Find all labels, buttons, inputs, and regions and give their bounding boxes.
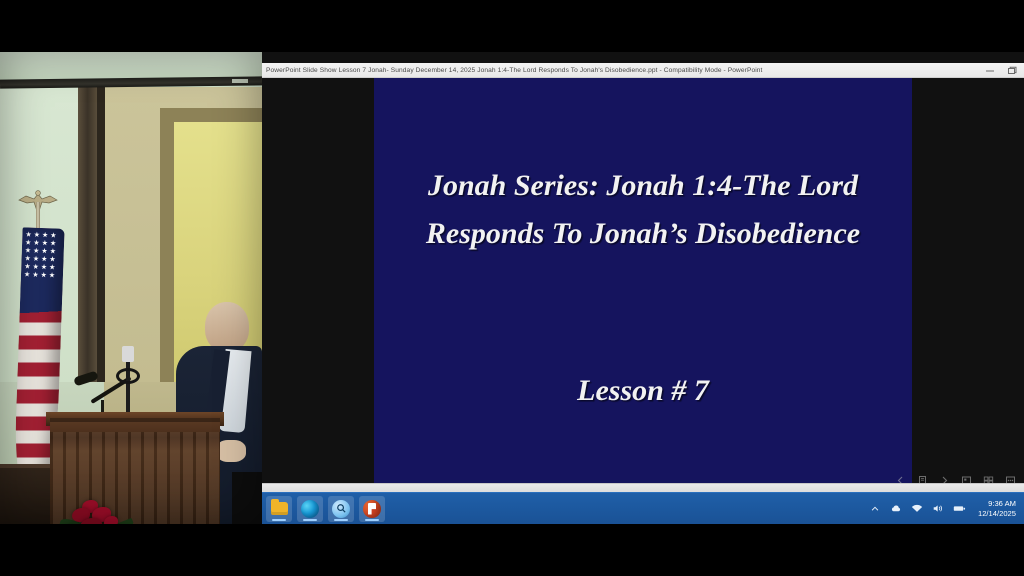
- webcam-video-pane[interactable]: ★★★★★★★★★★★★★★★★★★★★★★★★: [0, 52, 262, 524]
- microphone-clamp: [116, 368, 140, 384]
- screen: ★★★★★★★★★★★★★★★★★★★★★★★★: [0, 0, 1024, 576]
- system-tray: 9:36 AM 12/14/2025: [869, 499, 1024, 519]
- active-indicator: [365, 519, 379, 521]
- clock-date: 12/14/2025: [978, 509, 1016, 519]
- taskbar-app-buttons: [262, 496, 385, 522]
- title-bar[interactable]: PowerPoint Slide Show Lesson 7 Jonah- Su…: [262, 63, 1024, 78]
- poinsettia-flowers: [56, 498, 152, 524]
- taskbar-item-file-explorer[interactable]: [266, 496, 292, 522]
- active-indicator: [303, 519, 317, 521]
- active-indicator: [272, 519, 286, 521]
- powerpoint-window: PowerPoint Slide Show Lesson 7 Jonah- Su…: [262, 52, 1024, 492]
- restore-icon[interactable]: [1006, 65, 1018, 76]
- speaker-hand: [216, 440, 246, 462]
- speaker-icon[interactable]: [932, 502, 945, 515]
- taskbar-item-search[interactable]: [328, 496, 354, 522]
- taskbar-item-microsoft-edge[interactable]: [297, 496, 323, 522]
- window-bottom-strip: [262, 483, 1024, 492]
- microphone-head: [122, 346, 134, 362]
- foreground-furniture: [232, 472, 262, 524]
- cloud-icon[interactable]: [890, 502, 903, 515]
- chevron-up-icon[interactable]: [869, 502, 882, 515]
- wifi-icon[interactable]: [911, 502, 924, 515]
- current-slide[interactable]: Jonah Series: Jonah 1:4-The Lord Respond…: [374, 78, 912, 484]
- microphone: [122, 346, 134, 418]
- clock-time: 9:36 AM: [978, 499, 1016, 509]
- door-jamb-shadow: [97, 87, 105, 387]
- active-indicator: [334, 519, 348, 521]
- windows-taskbar[interactable]: 9:36 AM 12/14/2025: [262, 492, 1024, 524]
- folder-icon: [271, 502, 288, 515]
- taskbar-item-powerpoint[interactable]: [359, 496, 385, 522]
- slide-lesson-number: Lesson # 7: [380, 374, 906, 408]
- slide-title: Jonah Series: Jonah 1:4-The Lord Respond…: [380, 162, 906, 257]
- taskbar-clock[interactable]: 9:36 AM 12/14/2025: [974, 499, 1019, 519]
- window-title: PowerPoint Slide Show Lesson 7 Jonah- Su…: [262, 67, 763, 74]
- powerpoint-icon: [363, 500, 381, 518]
- slide-show-canvas[interactable]: Jonah Series: Jonah 1:4-The Lord Respond…: [262, 78, 1024, 492]
- minimize-icon[interactable]: [984, 65, 996, 76]
- ceiling: [0, 52, 262, 80]
- battery-icon[interactable]: [953, 502, 966, 515]
- window-controls: [984, 63, 1022, 78]
- edge-icon: [301, 500, 319, 518]
- flag-stars: ★★★★★★★★★★★★★★★★★★★★★★★★: [20, 227, 65, 313]
- magnifier-icon: [332, 500, 350, 518]
- ceiling-fixture: [232, 79, 248, 83]
- speaker-head: [205, 302, 249, 352]
- side-table: [0, 468, 52, 524]
